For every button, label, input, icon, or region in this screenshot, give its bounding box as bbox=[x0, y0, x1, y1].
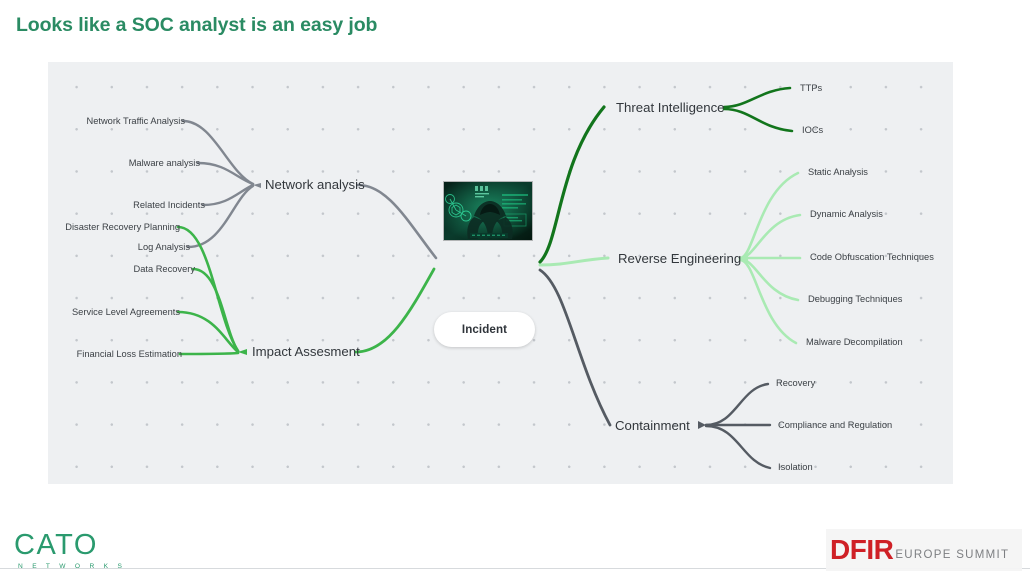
leaf-node-network-traffic-analysis[interactable]: Network Traffic Analysis bbox=[48, 117, 185, 126]
leaf-node-recovery[interactable]: Recovery bbox=[776, 379, 815, 388]
leaf-node-malware-analysis[interactable]: Malware analysis bbox=[48, 159, 200, 168]
leaf-node-malware-decompilation[interactable]: Malware Decompilation bbox=[806, 338, 903, 347]
dfir-logo-subtitle: EUROPE SUMMIT bbox=[895, 549, 1009, 561]
center-hacker-image bbox=[444, 182, 532, 240]
leaf-node-related-incidents[interactable]: Related Incidents bbox=[48, 201, 205, 210]
branch-node-containment[interactable]: Containment bbox=[615, 419, 690, 432]
center-node-incident[interactable]: Incident bbox=[434, 312, 535, 347]
branch-node-reverse-engineering[interactable]: Reverse Engineering bbox=[618, 252, 741, 265]
branch-node-impact-assesment[interactable]: Impact Assesment bbox=[252, 345, 360, 358]
dfir-europe-summit-logo: DFIR EUROPE SUMMIT bbox=[826, 529, 1022, 571]
branch-node-threat-intelligence[interactable]: Threat Intelligence bbox=[616, 101, 725, 114]
slide-root: Looks like a SOC analyst is an easy job bbox=[0, 0, 1030, 580]
page-title: Looks like a SOC analyst is an easy job bbox=[16, 14, 377, 37]
leaf-node-ttps[interactable]: TTPs bbox=[800, 84, 822, 93]
mindmap-canvas[interactable]: Incident Network analysis Network Traffi… bbox=[48, 62, 953, 484]
branch-node-network-analysis[interactable]: Network analysis bbox=[265, 178, 365, 191]
leaf-node-code-obfuscation-techniques[interactable]: Code Obfuscation Techniques bbox=[810, 253, 934, 262]
cato-logo-wordmark: CATO bbox=[14, 531, 174, 560]
leaf-node-financial-loss-estimation[interactable]: Financial Loss Estimation bbox=[48, 350, 182, 359]
cato-networks-logo: CATO N E T W O R K S bbox=[14, 531, 174, 571]
leaf-node-isolation[interactable]: Isolation bbox=[778, 463, 813, 472]
leaf-node-compliance-and-regulation[interactable]: Compliance and Regulation bbox=[778, 421, 892, 430]
leaf-node-log-analysis[interactable]: Log Analysis bbox=[48, 243, 190, 252]
leaf-node-debugging-techniques[interactable]: Debugging Techniques bbox=[808, 295, 902, 304]
cato-logo-tagline: N E T W O R K S bbox=[18, 563, 174, 570]
dfir-logo-wordmark: DFIR bbox=[830, 536, 893, 564]
center-node-label: Incident bbox=[462, 323, 507, 336]
leaf-node-service-level-agreements[interactable]: Service Level Agreements bbox=[48, 308, 180, 317]
leaf-node-data-recovery[interactable]: Data Recovery bbox=[48, 265, 195, 274]
leaf-node-disaster-recovery-planning[interactable]: Disaster Recovery Planning bbox=[48, 223, 180, 232]
leaf-node-dynamic-analysis[interactable]: Dynamic Analysis bbox=[810, 210, 883, 219]
leaf-node-iocs[interactable]: IOCs bbox=[802, 126, 823, 135]
leaf-node-static-analysis[interactable]: Static Analysis bbox=[808, 168, 868, 177]
